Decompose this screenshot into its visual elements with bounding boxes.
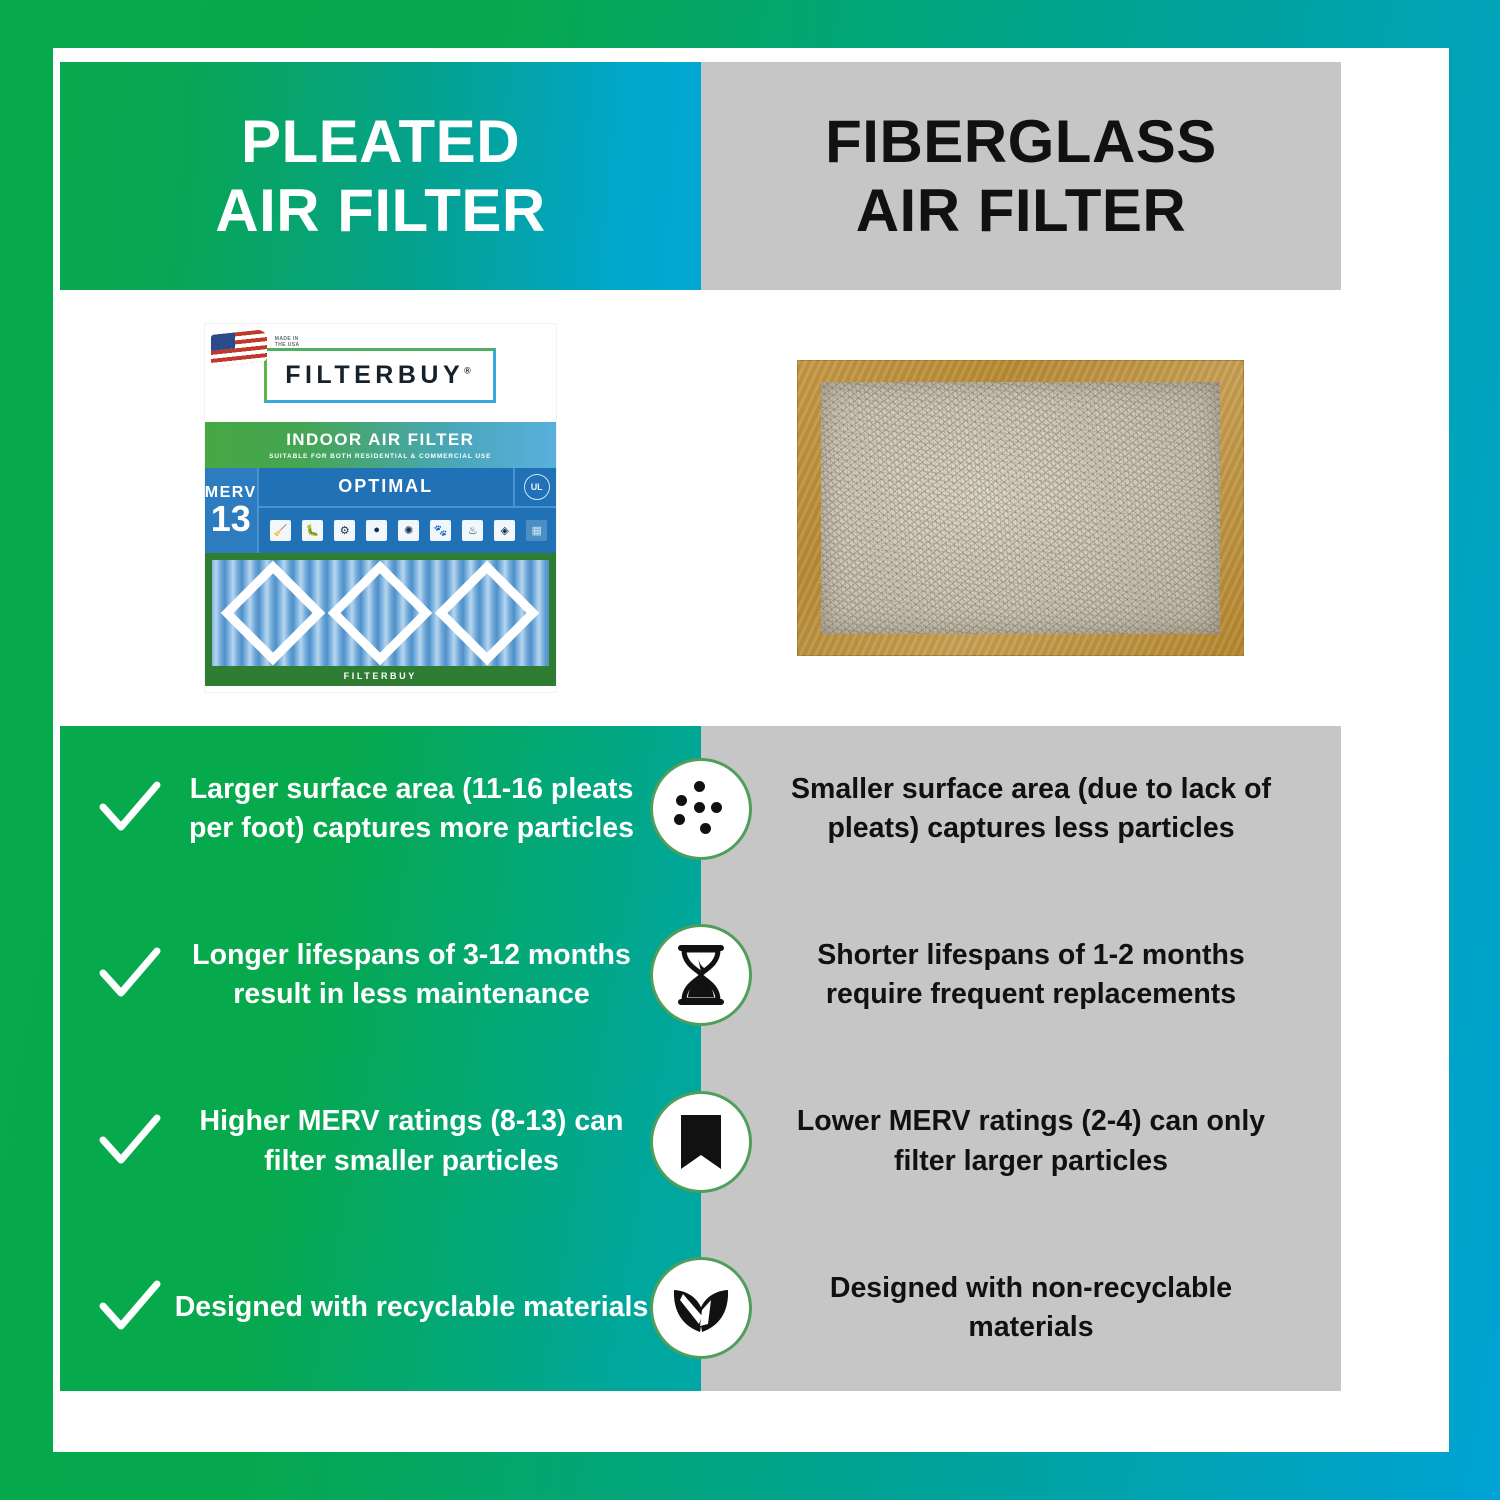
- product-image-row: MADE INTHE USA FILTERBUY® INDOOR AIR FIL…: [60, 290, 1341, 725]
- ul-certification: UL: [513, 468, 556, 506]
- wire-diamond-3: [435, 560, 540, 665]
- made-in-usa-label: MADE INTHE USA: [275, 336, 300, 350]
- feature-icon-smoke: ♨: [459, 520, 487, 541]
- bacteria-icon: ◈: [494, 520, 515, 541]
- comparison-table: Larger surface area (11-16 pleats per fo…: [60, 726, 1341, 1391]
- comparison-text-fiberglass: Smaller surface area (due to lack of ple…: [775, 770, 1287, 849]
- wire-diamond-1: [221, 560, 326, 665]
- row-badge: [650, 1257, 752, 1359]
- comparison-cell-pleated: Larger surface area (11-16 pleats per fo…: [60, 726, 701, 892]
- pleat-media-window: [205, 553, 556, 666]
- particles-icon: [673, 781, 729, 837]
- mold-icon: ●: [366, 520, 387, 541]
- feature-icon-mold: ●: [363, 520, 391, 541]
- comparison-cell-fiberglass: Lower MERV ratings (2-4) can only filter…: [701, 1059, 1341, 1225]
- dust-mite-icon: 🐛: [302, 520, 323, 541]
- pleated-filter-image: MADE INTHE USA FILTERBUY® INDOOR AIR FIL…: [205, 324, 556, 692]
- feature-icon-pollen: ⚙: [331, 520, 359, 541]
- broom-icon: 🧹: [270, 520, 291, 541]
- feature-icon-strip: 🧹 🐛 ⚙ ● ✺ 🐾 ♨ ◈ ▦: [259, 508, 556, 553]
- check-icon: [94, 1114, 166, 1170]
- package-top: MADE INTHE USA FILTERBUY®: [205, 324, 556, 422]
- fiberglass-filter-image: [797, 360, 1244, 656]
- check-icon: [94, 1280, 166, 1336]
- comparison-row: Designed with recyclable materials Desig…: [60, 1225, 1341, 1391]
- header-fiberglass-line2: AIR FILTER: [825, 176, 1217, 245]
- check-icon: [94, 947, 166, 1003]
- pleat-media: [212, 560, 549, 666]
- header-fiberglass-title: FIBERGLASS AIR FILTER: [825, 107, 1217, 245]
- pleated-product-cell: MADE INTHE USA FILTERBUY® INDOOR AIR FIL…: [60, 290, 701, 725]
- infographic-root: PLEATED AIR FILTER FIBERGLASS AIR FILTER…: [0, 0, 1500, 1500]
- wire-diamond-2: [328, 560, 433, 665]
- merv-value: 13: [211, 502, 251, 536]
- ul-mark-icon: UL: [524, 474, 550, 500]
- comparison-cell-fiberglass: Smaller surface area (due to lack of ple…: [701, 726, 1341, 892]
- comparison-text-fiberglass: Lower MERV ratings (2-4) can only filter…: [775, 1102, 1287, 1181]
- grade-row: OPTIMAL UL: [259, 468, 556, 508]
- row-badge: [650, 924, 752, 1026]
- header-fiberglass: FIBERGLASS AIR FILTER: [701, 62, 1341, 290]
- package-spec-right: OPTIMAL UL 🧹 🐛 ⚙ ● ✺ 🐾 ♨: [259, 468, 556, 553]
- comparison-cell-pleated: Longer lifespans of 3-12 months result i…: [60, 892, 701, 1058]
- grade-label: OPTIMAL: [259, 468, 513, 506]
- filter-icon: ▦: [526, 520, 547, 541]
- paw-icon: 🐾: [430, 520, 451, 541]
- hourglass-icon: [673, 944, 729, 1006]
- virus-icon: ✺: [398, 520, 419, 541]
- header-pleated-line1: PLEATED: [241, 108, 520, 175]
- package-band-subtitle: SUITABLE FOR BOTH RESIDENTIAL & COMMERCI…: [269, 453, 491, 460]
- header-pleated: PLEATED AIR FILTER: [60, 62, 701, 290]
- comparison-cell-pleated: Higher MERV ratings (8-13) can filter sm…: [60, 1059, 701, 1225]
- smoke-icon: ♨: [462, 520, 483, 541]
- comparison-cell-fiberglass: Designed with non-recyclable materials: [701, 1225, 1341, 1391]
- comparison-cell-fiberglass: Shorter lifespans of 1-2 months require …: [701, 892, 1341, 1058]
- merv-badge: MERV 13: [205, 468, 259, 553]
- feature-icon-bacteria: ◈: [491, 520, 519, 541]
- comparison-cell-pleated: Designed with recyclable materials: [60, 1225, 701, 1391]
- comparison-row: Longer lifespans of 3-12 months result i…: [60, 892, 1341, 1058]
- ribbon-icon: [678, 1113, 724, 1171]
- package-footer-brand: FILTERBUY: [205, 666, 556, 686]
- feature-icon-dander: 🐾: [427, 520, 455, 541]
- row-badge: [650, 758, 752, 860]
- usa-flag-icon: [211, 329, 267, 367]
- pollen-icon: ⚙: [334, 520, 355, 541]
- package-spec-block: MERV 13 OPTIMAL UL 🧹 🐛: [205, 468, 556, 553]
- comparison-text-pleated: Longer lifespans of 3-12 months result i…: [166, 936, 657, 1015]
- comparison-rows: Larger surface area (11-16 pleats per fo…: [60, 726, 1341, 1391]
- header-pleated-line2: AIR FILTER: [215, 176, 546, 245]
- comparison-text-pleated: Higher MERV ratings (8-13) can filter sm…: [166, 1102, 657, 1181]
- comparison-text-pleated: Designed with recyclable materials: [166, 1288, 657, 1327]
- header-row: PLEATED AIR FILTER FIBERGLASS AIR FILTER: [60, 62, 1341, 290]
- fiberglass-product-cell: [701, 290, 1342, 725]
- fiberglass-mesh: [821, 382, 1220, 634]
- leaf-icon: [669, 1280, 733, 1336]
- comparison-text-pleated: Larger surface area (11-16 pleats per fo…: [166, 770, 657, 849]
- header-pleated-title: PLEATED AIR FILTER: [215, 107, 546, 245]
- header-fiberglass-line1: FIBERGLASS: [825, 108, 1217, 175]
- package-band: INDOOR AIR FILTER SUITABLE FOR BOTH RESI…: [205, 422, 556, 468]
- feature-icon-broom: 🧹: [267, 520, 295, 541]
- package-band-title: INDOOR AIR FILTER: [286, 430, 474, 450]
- comparison-row: Higher MERV ratings (8-13) can filter sm…: [60, 1059, 1341, 1225]
- feature-icon-virus: ✺: [395, 520, 423, 541]
- feature-icon-dust-mite: 🐛: [299, 520, 327, 541]
- filterbuy-logo: FILTERBUY®: [264, 348, 496, 403]
- filterbuy-logo-text: FILTERBUY®: [285, 361, 475, 390]
- comparison-text-fiberglass: Designed with non-recyclable materials: [775, 1269, 1287, 1348]
- comparison-row: Larger surface area (11-16 pleats per fo…: [60, 726, 1341, 892]
- comparison-text-fiberglass: Shorter lifespans of 1-2 months require …: [775, 936, 1287, 1015]
- row-badge: [650, 1091, 752, 1193]
- feature-icon-filter: ▦: [523, 520, 551, 541]
- check-icon: [94, 781, 166, 837]
